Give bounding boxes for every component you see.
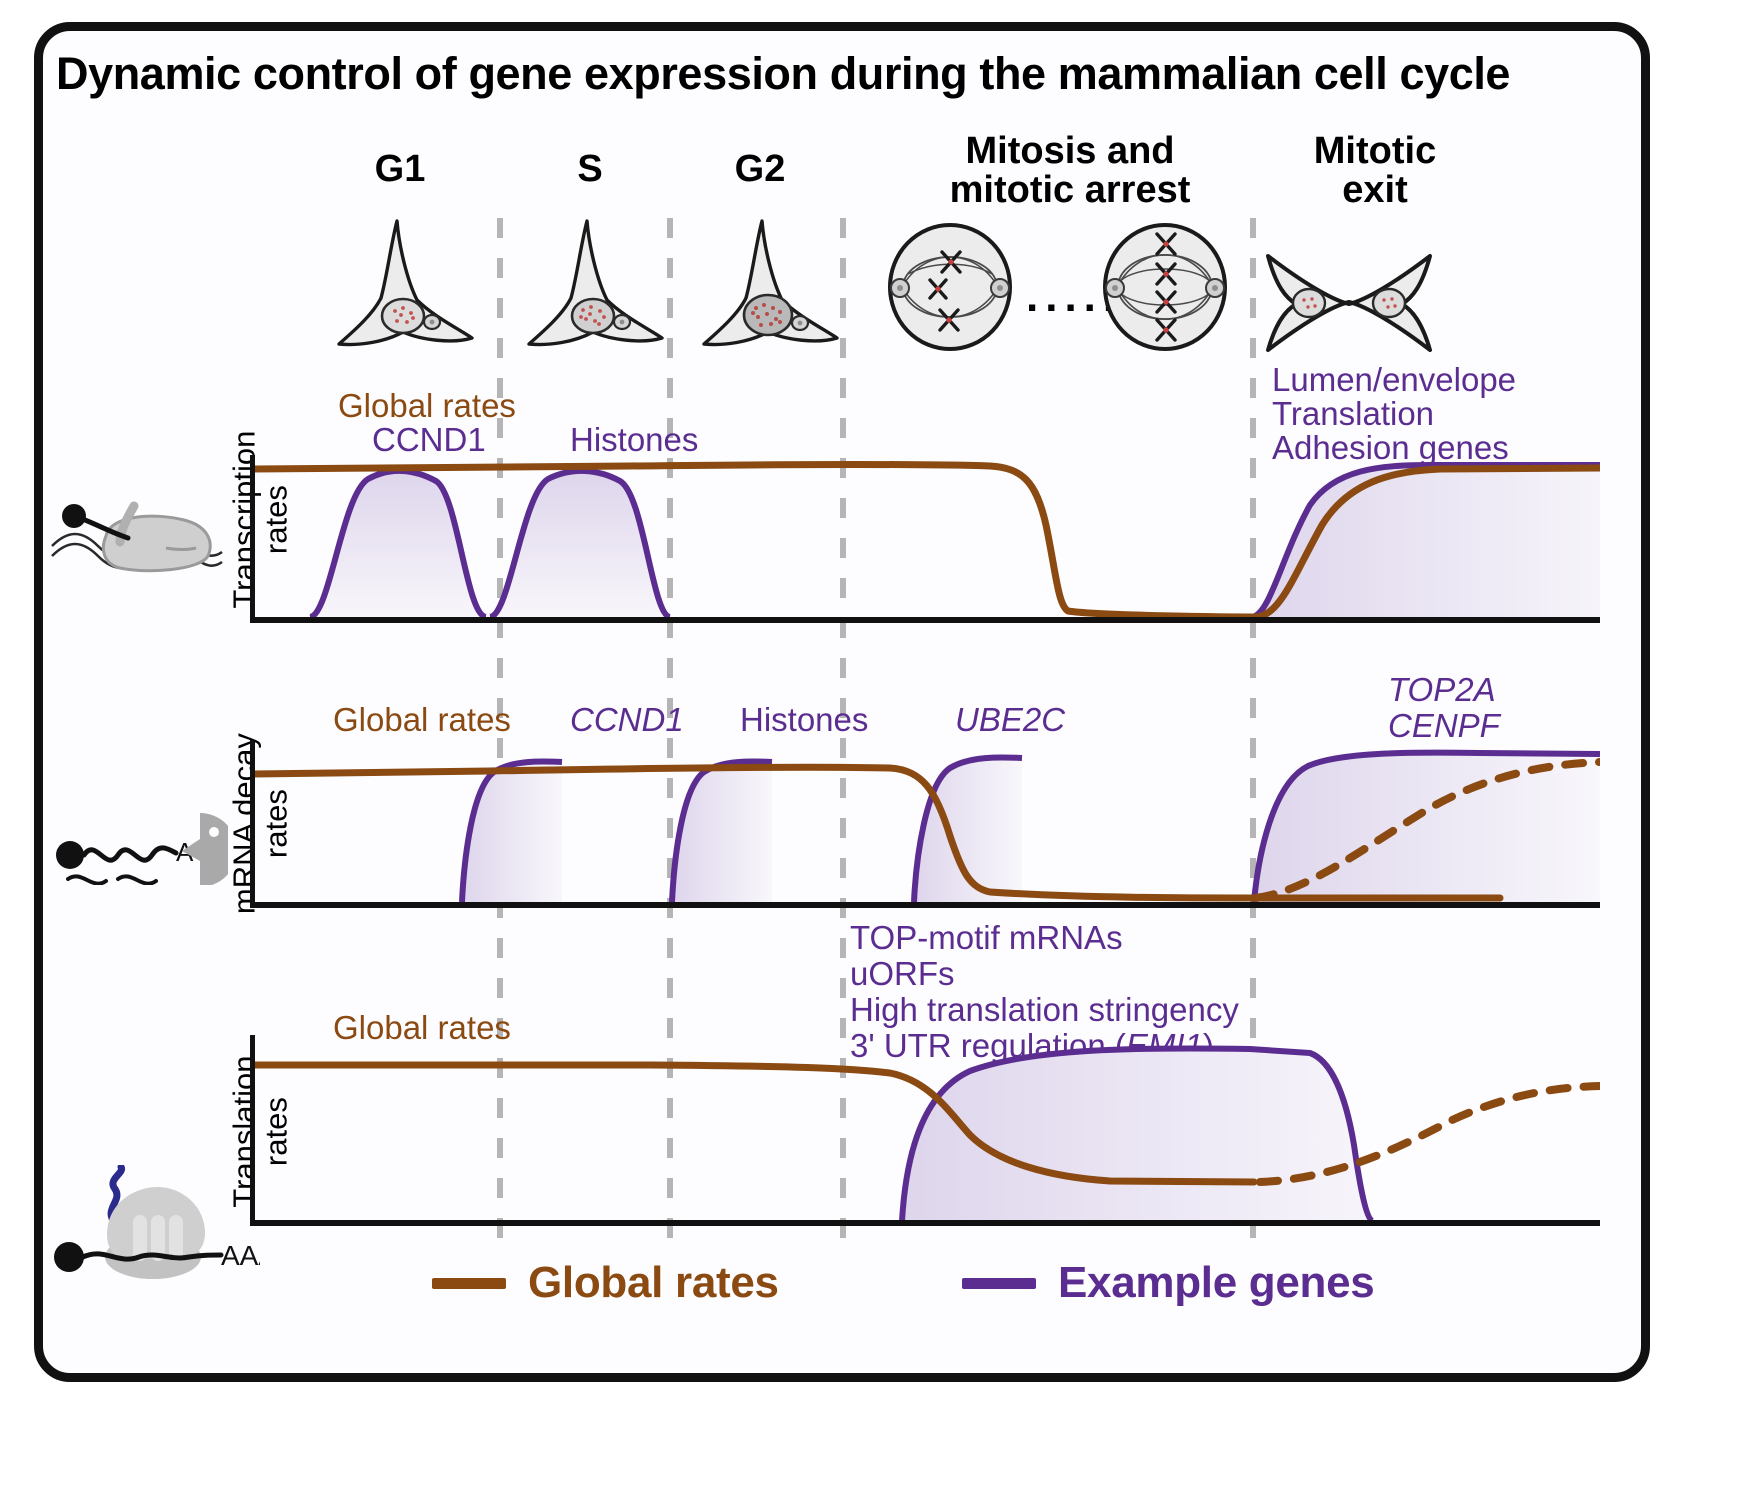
legend-label-example-genes: Example genes [1058, 1258, 1374, 1308]
legend-global-rates: Global rates [432, 1258, 779, 1308]
plot-mrna-decay [250, 740, 1600, 920]
rna-polymerase-icon [48, 490, 226, 580]
legend-example-genes: Example genes [962, 1258, 1374, 1308]
annotation-translation-uorfs: uORFs [850, 956, 955, 991]
annotation-decay-cenpf: CENPF [1388, 708, 1500, 743]
ribosome-polya-label: AAA [221, 1240, 260, 1271]
annotation-decay-global: Global rates [333, 702, 511, 737]
annotation-decay-ccnd1: CCND1 [570, 702, 684, 737]
annotation-decay-ube2c: UBE2C [955, 702, 1065, 737]
legend-swatch-global-rates [432, 1278, 506, 1289]
plot-translation [250, 1035, 1600, 1235]
annotation-decay-top2a: TOP2A [1388, 672, 1496, 707]
mrna-decay-icon: A [48, 775, 228, 885]
annotation-transcription-ccnd1: CCND1 [372, 422, 486, 457]
figure-root: Dynamic control of gene expression durin… [0, 0, 1740, 1488]
annotation-transcription-translation: Translation [1272, 396, 1434, 431]
plot-transcription [250, 455, 1600, 635]
annotation-decay-histones: Histones [740, 702, 868, 737]
annotation-transcription-histones: Histones [570, 422, 698, 457]
annotation-translation-top-motif: TOP-motif mRNAs [850, 920, 1123, 955]
annotation-transcription-global: Global rates [338, 388, 516, 423]
annotation-transcription-lumen: Lumen/envelope [1272, 362, 1516, 397]
annotation-translation-stringency: High translation stringency [850, 992, 1239, 1027]
legend-swatch-example-genes [962, 1278, 1036, 1289]
legend-label-global-rates: Global rates [528, 1258, 779, 1308]
